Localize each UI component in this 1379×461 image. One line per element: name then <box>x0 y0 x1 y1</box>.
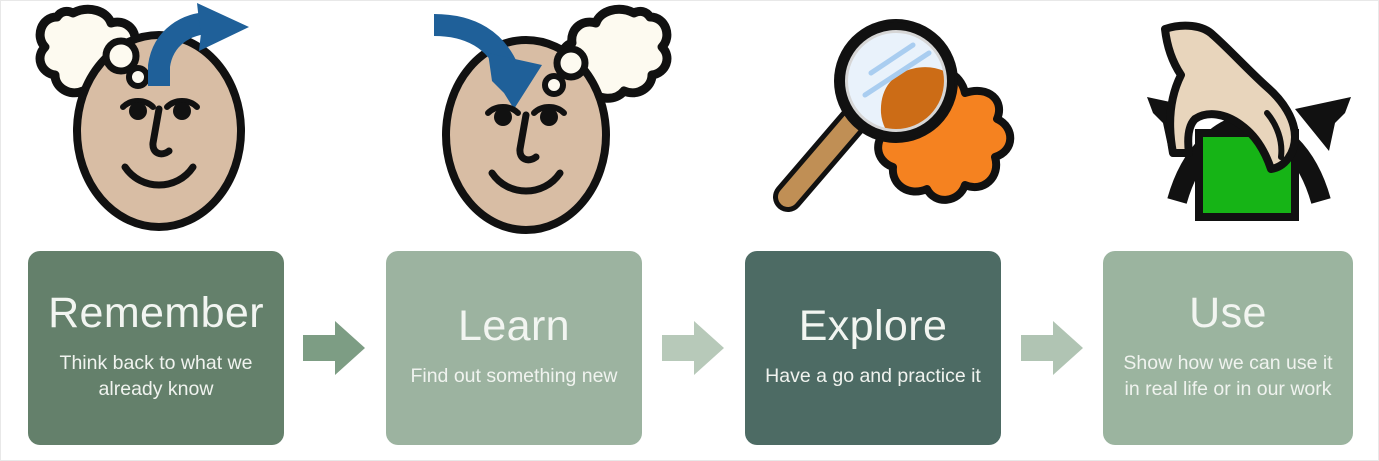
hand-holding-block-icon <box>1099 1 1379 241</box>
arrow-right-icon <box>299 313 369 383</box>
step-icon-use <box>1099 1 1379 241</box>
head-thought-bubble-arrow-out-icon <box>11 1 311 241</box>
magnifying-glass-splat-icon <box>753 1 1053 241</box>
step-icon-explore <box>753 1 1053 241</box>
head-thought-bubble-arrow-in-icon <box>396 1 696 241</box>
step-title: Explore <box>799 303 948 349</box>
learning-cycle-diagram: Remember Think back to what we already k… <box>0 0 1379 461</box>
step-card-remember[interactable]: Remember Think back to what we already k… <box>28 251 284 445</box>
arrow-right-icon <box>658 313 728 383</box>
step-card-explore[interactable]: Explore Have a go and practice it <box>745 251 1001 445</box>
step-description: Have a go and practice it <box>765 363 981 389</box>
step-description: Think back to what we already know <box>42 350 270 402</box>
step-title: Learn <box>458 303 570 349</box>
step-description: Find out something new <box>410 363 617 389</box>
connector-arrow-1 <box>299 313 369 383</box>
step-card-use[interactable]: Use Show how we can use it in real life … <box>1103 251 1353 445</box>
step-icon-learn <box>396 1 696 241</box>
arrow-right-icon <box>1017 313 1087 383</box>
connector-arrow-2 <box>658 313 728 383</box>
step-icon-remember <box>11 1 311 241</box>
step-title: Use <box>1189 290 1267 336</box>
step-description: Show how we can use it in real life or i… <box>1117 350 1339 402</box>
step-card-learn[interactable]: Learn Find out something new <box>386 251 642 445</box>
connector-arrow-3 <box>1017 313 1087 383</box>
step-title: Remember <box>48 290 264 336</box>
